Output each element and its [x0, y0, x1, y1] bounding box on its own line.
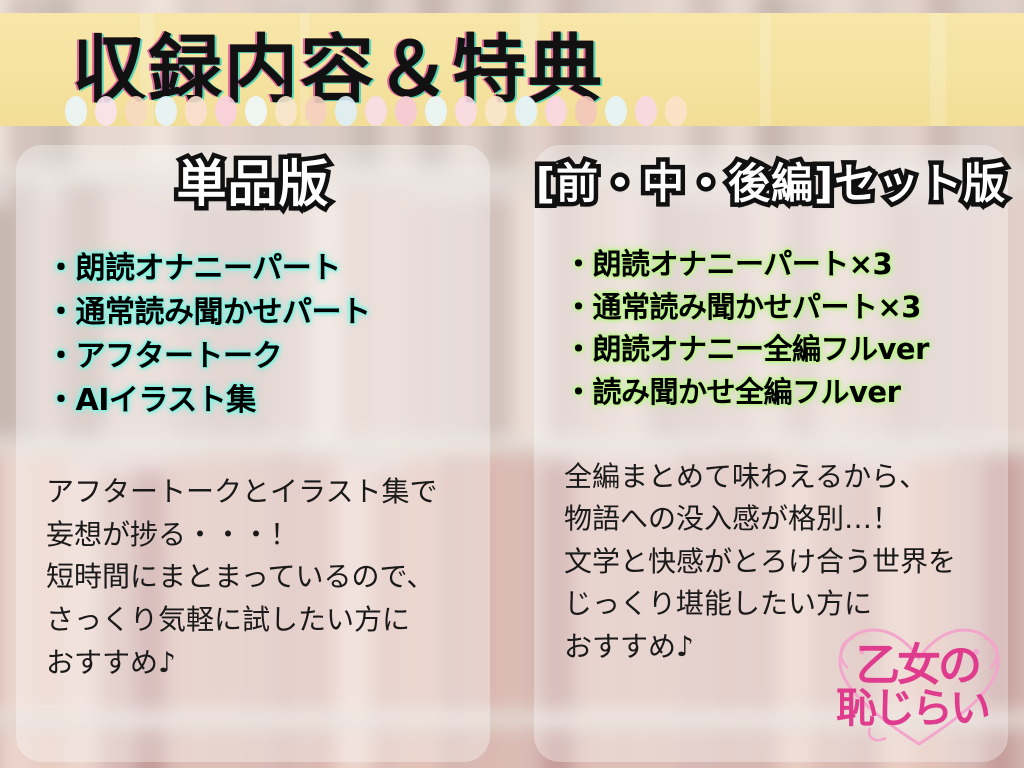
brand-logo-line1: 乙女の: [856, 644, 1024, 688]
feature-item: ・AIイラスト集: [46, 379, 490, 423]
feature-item: ・読み聞かせ全編フルver: [564, 371, 1008, 414]
description-line: おすすめ♪: [46, 642, 490, 685]
description-line: 短時間にまとまっているので、: [46, 556, 490, 599]
feature-item: ・朗読オナニー全編フルver: [564, 328, 1008, 371]
egg-ornament-icon: [635, 96, 657, 126]
egg-ornament-icon: [275, 96, 297, 126]
egg-ornament-icon: [305, 96, 327, 126]
egg-ornament-icon: [485, 96, 507, 126]
egg-ornament-icon: [605, 96, 627, 126]
egg-ornament-icon: [245, 96, 267, 126]
brand-logo: 乙女の 恥じらい: [826, 618, 1012, 754]
egg-ornament-icon: [515, 96, 537, 126]
feature-item: ・朗読オナニーパート: [46, 247, 490, 291]
egg-ornament-icon: [395, 96, 417, 126]
egg-ornament-icon: [185, 96, 207, 126]
feature-list-tanpin: ・朗読オナニーパート ・通常読み聞かせパート ・アフタートーク ・AIイラスト集: [16, 247, 490, 423]
feature-item: ・通常読み聞かせパート×3: [564, 286, 1008, 329]
description-line: 全編まとめて味わえるから、: [564, 456, 1008, 499]
egg-ornament-icon: [155, 96, 177, 126]
egg-ornament-icon: [545, 96, 567, 126]
book-spine: [0, 205, 11, 443]
description-line: さっくり気軽に試したい方に: [46, 599, 490, 642]
feature-item: ・通常読み聞かせパート: [46, 291, 490, 335]
egg-ornament-icon: [665, 96, 687, 126]
egg-ornament-icon: [65, 96, 87, 126]
egg-ornament-icon: [95, 96, 117, 126]
banner-decoration-row: [65, 96, 705, 126]
description-line: 文学と快感がとろけ合う世界を: [564, 541, 1008, 584]
egg-ornament-icon: [335, 96, 357, 126]
panel-heading-tanpin: 単品版: [16, 159, 490, 209]
description-line: アフタートークとイラスト集で: [46, 471, 490, 514]
egg-ornament-icon: [455, 96, 477, 126]
feature-list-set: ・朗読オナニーパート×3 ・通常読み聞かせパート×3 ・朗読オナニー全編フルve…: [534, 243, 1008, 414]
panel-tanpin: 単品版 ・朗読オナニーパート ・通常読み聞かせパート ・アフタートーク ・AIイ…: [16, 145, 490, 762]
description-line: 物語への没入感が格別…！: [564, 498, 1008, 541]
feature-item: ・朗読オナニーパート×3: [564, 243, 1008, 286]
egg-ornament-icon: [365, 96, 387, 126]
feature-item: ・アフタートーク: [46, 335, 490, 379]
description-tanpin: アフタートークとイラスト集で 妄想が捗る・・・！ 短時間にまとまっているので、 …: [16, 471, 490, 684]
description-line: 妄想が捗る・・・！: [46, 514, 490, 557]
egg-ornament-icon: [575, 96, 597, 126]
panel-heading-set: [前・中・後編]セット版: [534, 163, 1008, 205]
egg-ornament-icon: [425, 96, 447, 126]
brand-logo-line2: 恥じらい: [836, 688, 1022, 729]
egg-ornament-icon: [125, 96, 147, 126]
egg-ornament-icon: [215, 96, 237, 126]
